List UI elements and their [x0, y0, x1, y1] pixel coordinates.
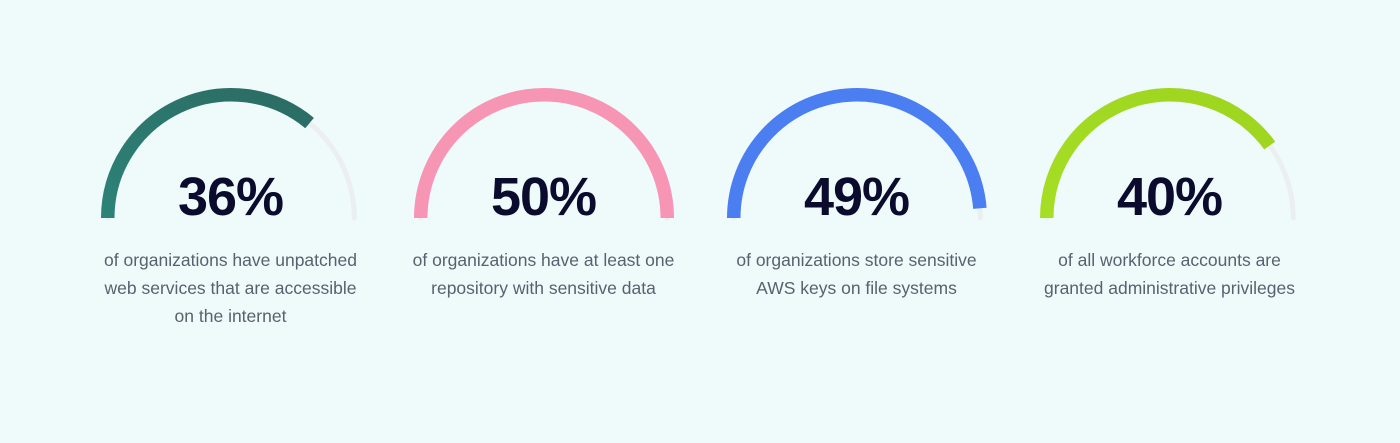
gauge-percent-label: 49% [727, 170, 987, 224]
gauge-percent-label: 36% [101, 170, 361, 224]
gauge-admin-privileges: 40% [1040, 88, 1300, 224]
stat-caption: of organizations have at least one repos… [408, 246, 680, 302]
stat-card-aws-keys-file-systems: 49% of organizations store sensitive AWS… [700, 88, 1013, 302]
stat-caption: of all workforce accounts are granted ad… [1034, 246, 1306, 302]
stat-caption: of organizations store sensitive AWS key… [721, 246, 993, 302]
stat-card-admin-privileges: 40% of all workforce accounts are grante… [1013, 88, 1326, 302]
gauge-repository-sensitive-data: 50% [414, 88, 674, 224]
stat-card-unpatched-web-services: 36% of organizations have unpatched web … [74, 88, 387, 330]
stat-caption: of organizations have unpatched web serv… [95, 246, 367, 330]
stat-card-repository-sensitive-data: 50% of organizations have at least one r… [387, 88, 700, 302]
gauge-percent-label: 40% [1040, 170, 1300, 224]
gauge-percent-label: 50% [414, 170, 674, 224]
gauge-unpatched-web-services: 36% [101, 88, 361, 224]
gauge-aws-keys-file-systems: 49% [727, 88, 987, 224]
statistics-board: 36% of organizations have unpatched web … [0, 0, 1400, 443]
